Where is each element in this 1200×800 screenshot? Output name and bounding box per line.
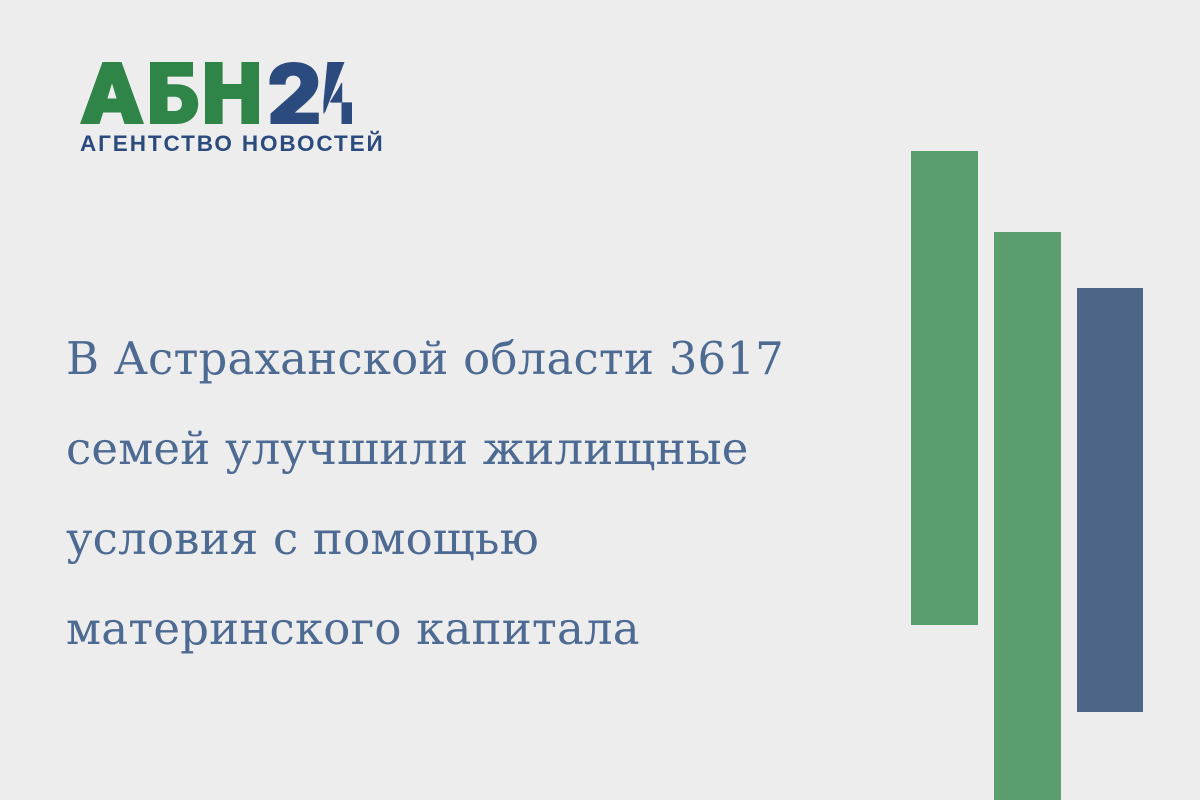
headline-line-2: семей улучшили жилищные bbox=[66, 404, 866, 494]
logo-tagline: АГЕНТСТВО НОВОСТЕЙ bbox=[80, 133, 370, 156]
headline-line-4: материнского капитала bbox=[66, 584, 866, 674]
chart-bar-3 bbox=[1077, 288, 1143, 712]
logo-block[interactable]: АГЕНТСТВО НОВОСТЕЙ bbox=[80, 62, 370, 156]
headline: В Астраханской области 3617 семей улучши… bbox=[66, 314, 866, 674]
chart-bar-2 bbox=[994, 232, 1061, 800]
chart-bar-1 bbox=[911, 151, 978, 625]
headline-line-3: условия с помощью bbox=[66, 494, 866, 584]
headline-line-1: В Астраханской области 3617 bbox=[66, 314, 866, 404]
news-card: АГЕНТСТВО НОВОСТЕЙ В Астраханской област… bbox=[0, 0, 1200, 800]
abn24-wordmark-icon bbox=[80, 62, 352, 124]
